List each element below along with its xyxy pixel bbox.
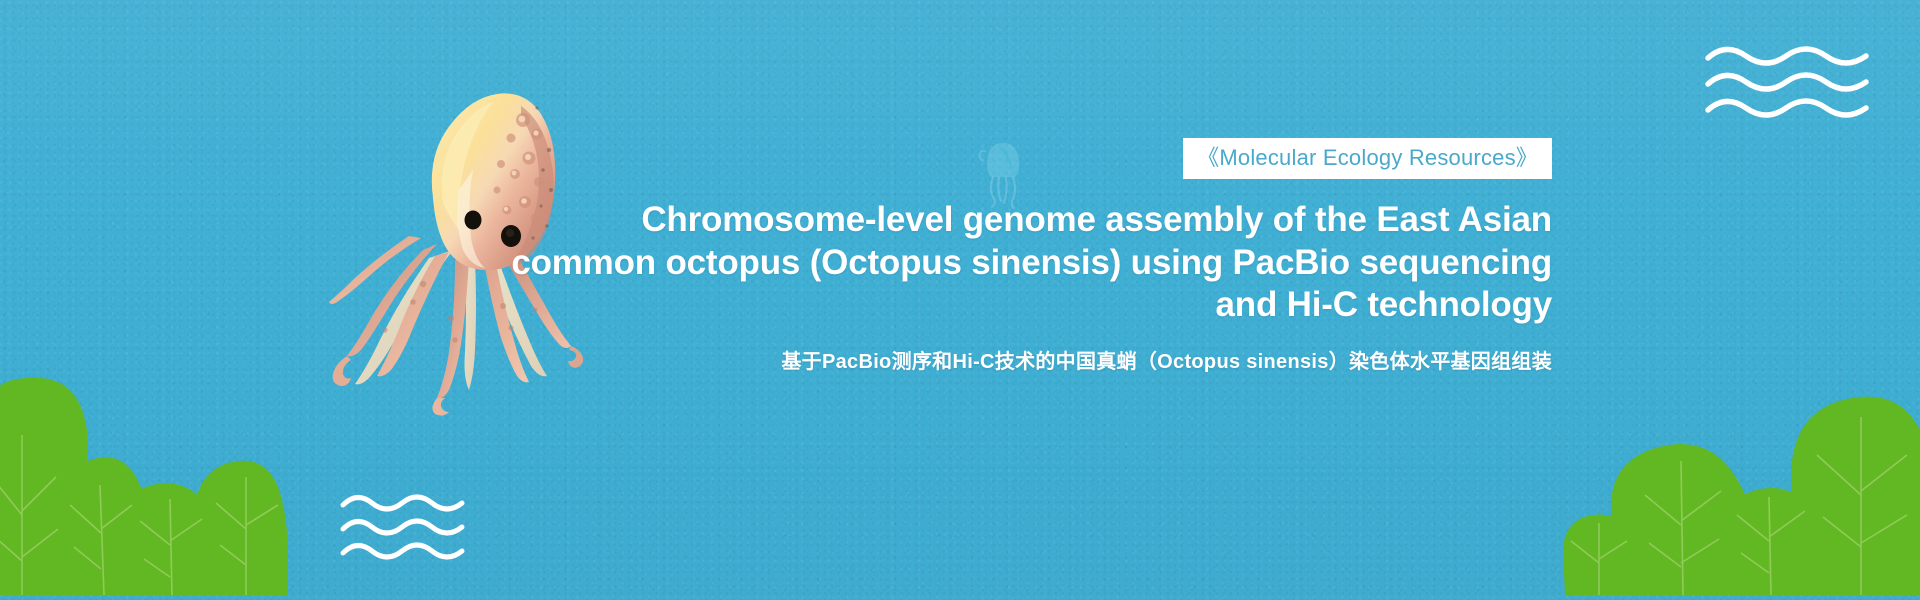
cover-text-block: 《Molecular Ecology Resources》 Chromosome… — [460, 138, 1552, 375]
seaweed-right — [1555, 355, 1920, 600]
journal-cover-banner: 《Molecular Ecology Resources》 Chromosome… — [0, 0, 1920, 600]
title-line-2: common octopus (Octopus sinensis) using … — [460, 242, 1552, 285]
wave-lines-top-right — [1704, 44, 1876, 125]
wave-lines-bottom-left — [339, 492, 469, 567]
paper-title-chinese: 基于PacBio测序和Hi-C技术的中国真蛸（Octopus sinensis）… — [460, 349, 1552, 375]
seaweed-left — [0, 365, 290, 600]
title-line-1: Chromosome-level genome assembly of the … — [460, 199, 1552, 242]
paper-title-english: Chromosome-level genome assembly of the … — [460, 199, 1552, 327]
journal-name-badge: 《Molecular Ecology Resources》 — [1183, 138, 1552, 179]
title-line-3: and Hi-C technology — [460, 284, 1552, 327]
